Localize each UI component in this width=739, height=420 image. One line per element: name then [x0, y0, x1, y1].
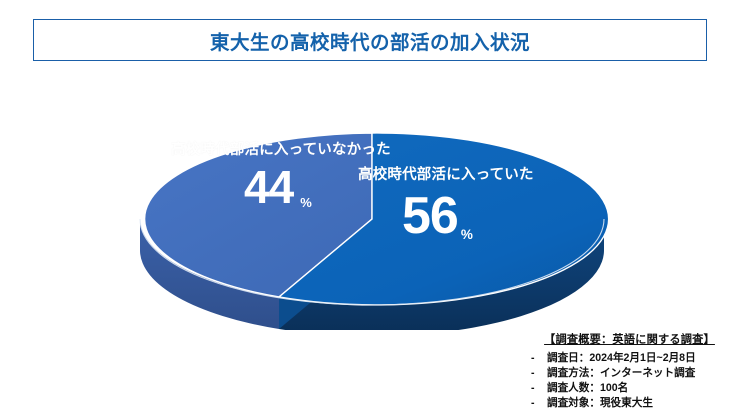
survey-summary-item: - 調査方法：インターネット調査	[527, 366, 732, 381]
bullet-dash-icon: -	[527, 366, 547, 381]
slide-canvas: 東大生の高校時代の部活の加入状況	[0, 0, 739, 420]
pie-chart-svg	[0, 70, 739, 330]
bullet-dash-icon: -	[527, 381, 547, 396]
survey-summary-item: - 調査人数：100名	[527, 381, 732, 396]
survey-summary: 【調査概要：英語に関する調査】 - 調査日：2024年2月1日~2月8日 - 調…	[527, 331, 732, 411]
bullet-dash-icon: -	[527, 396, 547, 411]
survey-summary-item-text: 調査人数：100名	[547, 381, 628, 396]
pie-chart: 高校時代部活に入っていなかった 44 % 高校時代部活に入っていた 56 %	[0, 70, 739, 330]
survey-summary-item-text: 調査方法：インターネット調査	[547, 366, 695, 381]
page-title: 東大生の高校時代の部活の加入状況	[210, 26, 530, 55]
survey-summary-heading: 【調査概要：英語に関する調査】	[527, 331, 732, 347]
survey-summary-item: - 調査対象：現役東大生	[527, 396, 732, 411]
survey-summary-item: - 調査日：2024年2月1日~2月8日	[527, 351, 732, 366]
survey-summary-item-text: 調査日：2024年2月1日~2月8日	[547, 351, 696, 366]
bullet-dash-icon: -	[527, 351, 547, 366]
survey-summary-item-text: 調査対象：現役東大生	[547, 396, 653, 411]
title-band: 東大生の高校時代の部活の加入状況	[33, 19, 707, 61]
